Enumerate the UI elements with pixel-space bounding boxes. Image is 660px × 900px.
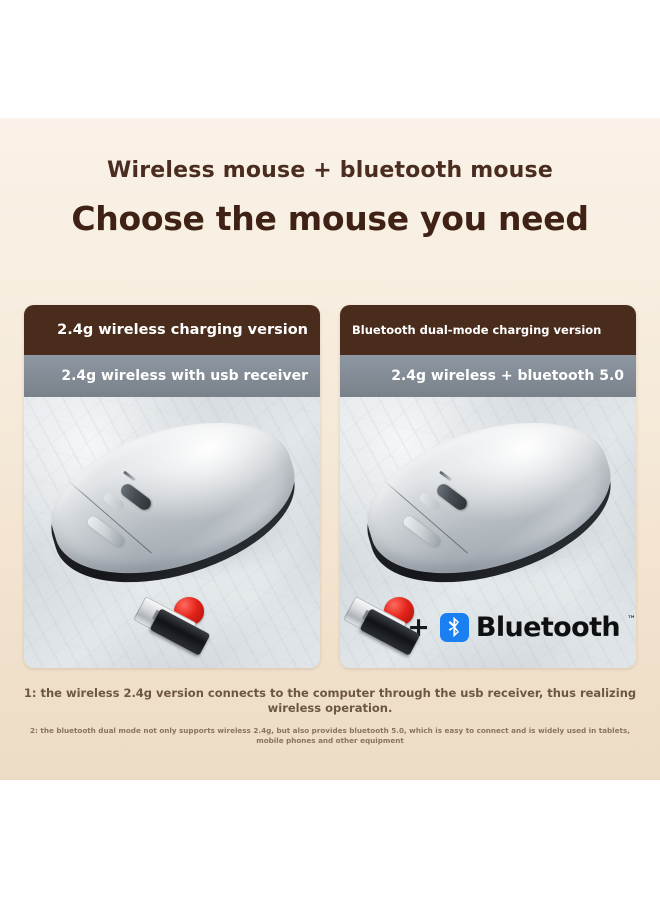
product-card-wireless[interactable]: 2.4g wireless charging version 2.4g wire… <box>24 305 320 668</box>
subtitle: Wireless mouse + bluetooth mouse <box>0 158 660 184</box>
card-subheader-band: 2.4g wireless + bluetooth 5.0 <box>340 355 636 397</box>
promo-page: Wireless mouse + bluetooth mouse Choose … <box>0 0 660 900</box>
card-header-band: Bluetooth dual-mode charging version <box>340 305 636 355</box>
bluetooth-icon <box>440 613 469 642</box>
wheel-notch <box>123 471 136 482</box>
left-button-edge <box>86 514 126 548</box>
product-photo-left <box>24 397 320 668</box>
scroll-wheel-icon <box>118 482 153 513</box>
footnotes: 1: the wireless 2.4g version connects to… <box>0 686 660 747</box>
trademark-symbol: ™ <box>627 615 636 625</box>
heading-block: Wireless mouse + bluetooth mouse Choose … <box>0 158 660 238</box>
scroll-wheel-icon <box>434 482 469 513</box>
wheel-notch <box>439 471 452 482</box>
footnote-2: 2: the bluetooth dual mode not only supp… <box>20 726 640 747</box>
card-subheader-band: 2.4g wireless with usb receiver <box>24 355 320 397</box>
card-subtitle-right: 2.4g wireless + bluetooth 5.0 <box>340 368 636 384</box>
mouse-illustration <box>346 411 630 591</box>
bluetooth-wordmark: Bluetooth <box>476 614 620 641</box>
accessory-row-left <box>24 596 320 658</box>
product-card-bluetooth[interactable]: Bluetooth dual-mode charging version 2.4… <box>340 305 636 668</box>
card-subtitle-left: 2.4g wireless with usb receiver <box>24 368 320 384</box>
product-card-list: 2.4g wireless charging version 2.4g wire… <box>24 305 636 668</box>
content-panel: Wireless mouse + bluetooth mouse Choose … <box>0 118 660 780</box>
left-button-edge <box>402 514 442 548</box>
product-photo-right: + Bluetooth ™ <box>340 397 636 668</box>
accessory-row-right: + Bluetooth ™ <box>340 596 636 658</box>
page-title: Choose the mouse you need <box>0 200 660 238</box>
bluetooth-logo: Bluetooth ™ <box>440 613 636 642</box>
card-header-band: 2.4g wireless charging version <box>24 305 320 355</box>
usb-receiver-icon <box>340 596 397 658</box>
card-title-right: Bluetooth dual-mode charging version <box>340 323 636 337</box>
mouse-illustration <box>30 411 314 591</box>
card-title-left: 2.4g wireless charging version <box>24 322 320 338</box>
footnote-1: 1: the wireless 2.4g version connects to… <box>0 686 660 716</box>
usb-receiver-icon <box>130 596 214 658</box>
